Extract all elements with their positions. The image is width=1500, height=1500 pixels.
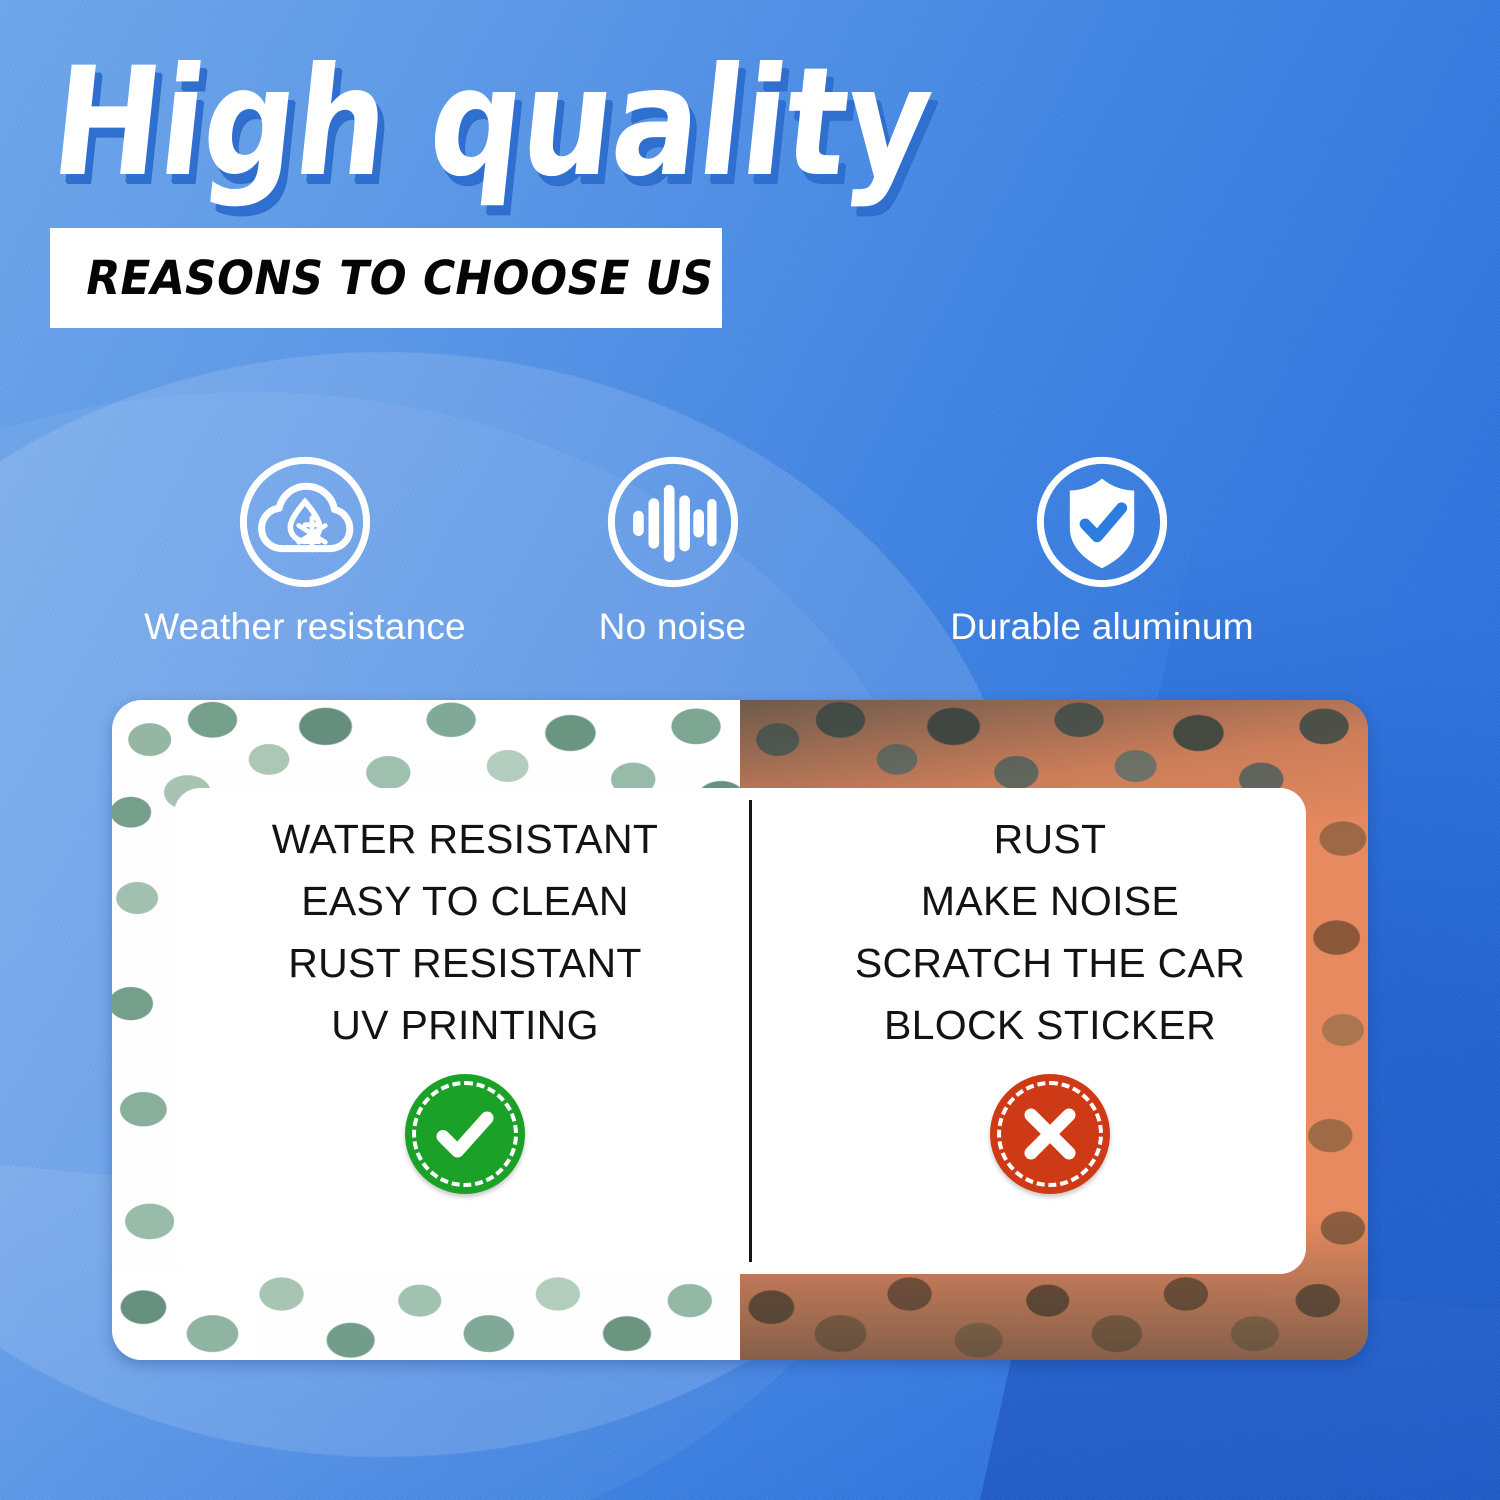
cross-x-icon bbox=[1015, 1099, 1085, 1169]
feature-row: Weather resistance No noise bbox=[90, 452, 1420, 672]
feature-label: Weather resistance bbox=[144, 606, 466, 648]
feature-no-noise: No noise bbox=[520, 452, 825, 648]
feature-label: Durable aluminum bbox=[950, 606, 1253, 648]
sound-waveform-icon bbox=[603, 452, 743, 592]
status-badge-bad bbox=[990, 1074, 1110, 1194]
comparison-panel-good: WATER RESISTANT EASY TO CLEAN RUST RESIS… bbox=[175, 808, 755, 1194]
feature-durable-aluminum: Durable aluminum bbox=[867, 452, 1337, 648]
comparison-panel-bad: RUST MAKE NOISE SCRATCH THE CAR BLOCK ST… bbox=[760, 808, 1340, 1194]
subtitle-text: REASONS TO CHOOSE US bbox=[81, 251, 718, 306]
good-line: RUST RESISTANT bbox=[288, 932, 642, 994]
feature-label: No noise bbox=[599, 606, 747, 648]
checkmark-icon bbox=[427, 1096, 503, 1172]
bad-line: MAKE NOISE bbox=[921, 870, 1179, 932]
feature-weather-resistance: Weather resistance bbox=[90, 452, 520, 648]
good-line: WATER RESISTANT bbox=[272, 808, 658, 870]
bad-line: RUST bbox=[994, 808, 1107, 870]
promo-graphic: High quality REASONS TO CHOOSE US Weathe… bbox=[0, 0, 1500, 1500]
page-title: High quality bbox=[45, 44, 973, 204]
weather-cloud-droplet-snowflake-icon bbox=[235, 452, 375, 592]
good-line: EASY TO CLEAN bbox=[301, 870, 629, 932]
status-badge-good bbox=[405, 1074, 525, 1194]
shield-check-icon bbox=[1032, 452, 1172, 592]
good-line: UV PRINTING bbox=[331, 994, 599, 1056]
subtitle-banner: REASONS TO CHOOSE US bbox=[50, 228, 722, 328]
bad-line: SCRATCH THE CAR bbox=[855, 932, 1245, 994]
bad-line: BLOCK STICKER bbox=[884, 994, 1216, 1056]
